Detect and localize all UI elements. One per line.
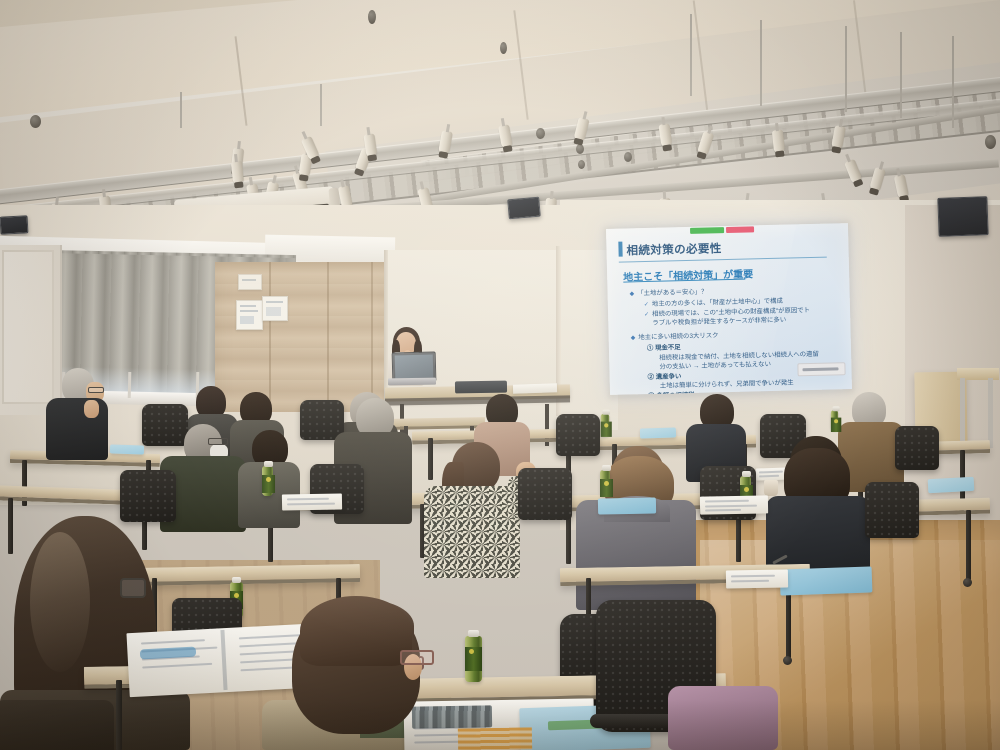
booklet-line (141, 639, 205, 644)
ceiling-hanger-6 (320, 84, 322, 126)
wall-speaker-left-small (507, 197, 541, 220)
wood-seam (327, 262, 329, 412)
seminar-room-photo: 相続対策の必要性 地主こそ「相続対策」が重要 「土地がある＝安心」？ 地主の方の… (0, 0, 1000, 750)
toast-text-placeholder (802, 367, 838, 371)
side-counter-leg (988, 378, 993, 448)
booklet-line (759, 475, 779, 477)
poster-line (240, 310, 258, 312)
ceiling-hanger-4 (900, 32, 902, 118)
ceiling-hanger-2 (760, 20, 762, 106)
light-blue-folder (110, 444, 144, 454)
paper-cup (764, 480, 778, 496)
chair-back (865, 482, 919, 538)
ceiling-sensor-2 (368, 10, 376, 24)
booklet-line (705, 500, 749, 502)
ribbon-pink-badge (726, 226, 754, 233)
desk-leg (428, 438, 433, 480)
ceiling-sensor-6 (624, 152, 632, 162)
chair-back (142, 404, 188, 446)
slide-bullet: ② 遺産争い (648, 373, 682, 382)
green-tea-bottle (601, 414, 610, 436)
chair-back (120, 470, 176, 522)
foreground-shadow (0, 700, 1000, 750)
attendee-glasses-icon (88, 387, 104, 393)
wall-poster-2 (262, 296, 288, 321)
light-blue-folder (640, 427, 676, 438)
green-tea-bottle (262, 466, 273, 496)
wood-seam (269, 262, 271, 412)
ceiling-sensor-4 (536, 128, 545, 139)
spotlight-icon (772, 129, 785, 153)
ceiling-sensor-8 (578, 160, 585, 169)
ceiling-hanger-7 (180, 92, 182, 128)
attendee-glasses-icon (120, 578, 146, 598)
slide-bullet: 土地は簡単に分けられず、兄弟間で争いが発生 (660, 379, 794, 391)
attendee-glasses-icon (400, 650, 434, 665)
open-booklet (282, 493, 342, 510)
green-tea-bottle (831, 410, 838, 429)
booklet-line (142, 663, 212, 668)
poster-line (240, 305, 256, 307)
attendee-hand (84, 400, 99, 418)
slide-title-accent-bar (618, 242, 622, 257)
wall-speaker-right (937, 196, 988, 237)
presenter-laptop-base (388, 378, 436, 386)
desk-caster (783, 656, 792, 665)
light-blue-folder (928, 477, 975, 493)
light-blue-folder (780, 566, 873, 595)
ceiling-sensor-7 (985, 135, 996, 149)
green-tea-bottle (465, 636, 482, 682)
desk-leg (8, 498, 13, 554)
ceiling-hanger-5 (952, 36, 954, 128)
green-tea-bottle (600, 470, 610, 496)
slide-bullet: ① 現金不足 (647, 344, 681, 353)
open-booklet (700, 495, 768, 514)
booklet-line (731, 575, 775, 577)
ceiling-hanger-3 (845, 26, 847, 112)
projection-screen: 相続対策の必要性 地主こそ「相続対策」が重要 「土地がある＝安心」？ 地主の方の… (606, 223, 852, 395)
poster-line (242, 279, 256, 281)
booklet-line (759, 471, 783, 473)
wall-poster-3 (238, 274, 262, 290)
ceiling-sensor-3 (500, 42, 507, 54)
attendee-torso-patterned (424, 486, 520, 578)
ribbon-green-badge (690, 227, 724, 234)
wood-seam (371, 262, 373, 412)
booklet-line (287, 498, 329, 500)
attendee-hair-highlight (30, 532, 90, 672)
ceiling-sensor-1 (30, 115, 41, 128)
spotlight-icon (231, 160, 244, 184)
poster-line (240, 316, 254, 324)
ceiling-sensor-5 (576, 144, 584, 154)
slide-notification-toast (797, 362, 845, 376)
window-mullion (128, 372, 132, 398)
chair-back (556, 414, 600, 456)
booklet-line (705, 505, 757, 507)
poster-line (266, 307, 281, 316)
ceiling-hanger-1 (690, 14, 692, 96)
desk-caster (963, 578, 972, 587)
wall-poster-1 (236, 300, 263, 330)
poster-line (266, 301, 283, 303)
slide-title: 相続対策の必要性 (626, 240, 722, 258)
light-blue-folder (598, 497, 656, 514)
handout-papers (513, 383, 557, 394)
attendee-glasses-icon (208, 438, 228, 445)
wall-partition-left-frame (2, 250, 54, 404)
chair-back (518, 468, 572, 520)
booklet-line (731, 580, 769, 582)
open-booklet (726, 569, 788, 588)
booklet-line (287, 503, 335, 505)
desk-leg (966, 510, 971, 580)
projector-device (455, 381, 507, 394)
attendee-hair (300, 596, 412, 666)
wall-speaker-far-left (0, 215, 28, 234)
chair-back (895, 426, 939, 470)
booklet-line (705, 509, 741, 511)
